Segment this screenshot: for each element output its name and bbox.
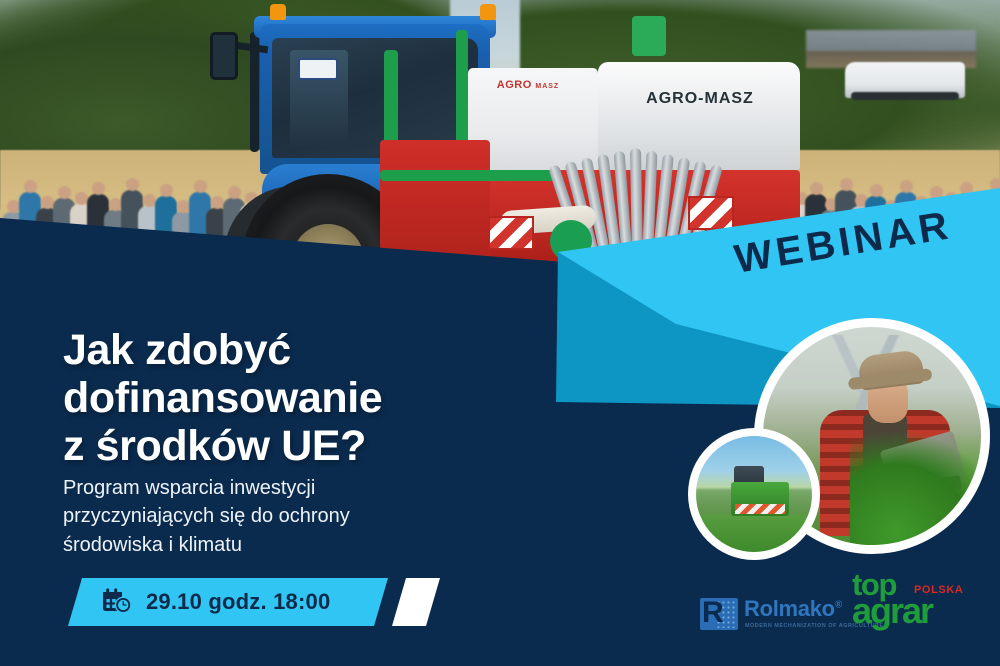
drill-hopper-brandmark: AGRO MASZ (478, 80, 578, 92)
drill-hopper-brand-text: AGRO (497, 79, 532, 91)
circle-photo-spreader-in-field (688, 428, 820, 560)
drill-body-brand-text: AGRO-MASZ (610, 90, 790, 108)
rolmako-mark-icon (700, 598, 738, 630)
tractor-mirror (210, 32, 238, 80)
subhead-line-1: Program wsparcia inwestycji (63, 474, 493, 502)
drill-hopper-brand-sub: MASZ (535, 83, 559, 90)
tractor-license-plate (298, 58, 338, 80)
rolmako-logo: Rolmako® MODERN MECHANIZATION OF AGRICUL… (700, 596, 836, 638)
circle-photo-spreader-inner (696, 436, 812, 552)
date-banner: 29.10 godz. 18:00 (68, 578, 428, 626)
drill-green-crossbar (380, 170, 560, 181)
rolmako-name-text: Rolmako (744, 596, 835, 621)
page-subtitle: Program wsparcia inwestycji przyczyniają… (63, 474, 493, 559)
scene-spreader-body (731, 482, 789, 516)
calendar-clock-icon (102, 588, 132, 616)
date-banner-text: 29.10 godz. 18:00 (146, 589, 330, 615)
rolmako-wordmark: Rolmako® (744, 596, 842, 622)
drill-green-tank (632, 16, 666, 56)
headline-line-3: z środków UE? (63, 422, 543, 470)
headline-line-2: dofinansowanie (63, 374, 543, 422)
drill-hazard-panel-a (488, 216, 534, 250)
subhead-line-3: środowiska i klimatu (63, 531, 493, 559)
photo-white-van (845, 62, 965, 98)
top-agrar-line2: agrar (852, 594, 932, 628)
page-title: Jak zdobyć dofinansowanie z środków UE? (63, 326, 543, 470)
scene-field (696, 436, 812, 552)
rolmako-registered-mark: ® (835, 600, 842, 611)
subhead-line-2: przyczyniających się do ochrony (63, 502, 493, 530)
webinar-poster: AGRO MASZ AGRO-MASZ WEBINAR (0, 0, 1000, 666)
tractor-beacon-right (480, 4, 496, 20)
top-agrar-polska-logo: top POLSKA agrar (852, 570, 974, 632)
rolmako-mark-dots (716, 600, 736, 628)
scene-corn-foliage (850, 432, 981, 545)
headline-line-1: Jak zdobyć (63, 326, 543, 374)
drill-hazard-panel-b (688, 196, 734, 230)
tractor-beacon-left (270, 4, 286, 20)
